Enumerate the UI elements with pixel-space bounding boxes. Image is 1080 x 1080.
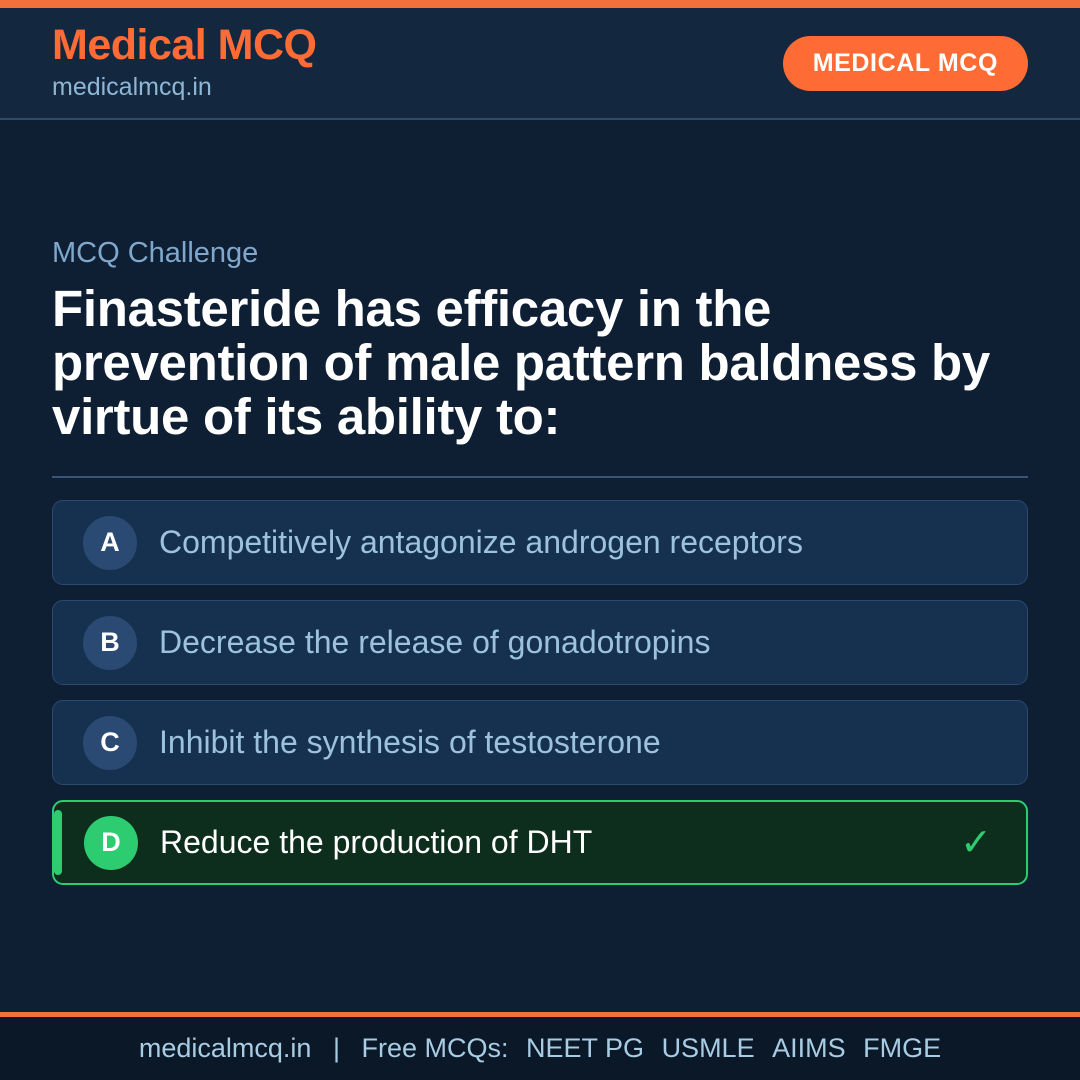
option-letter-badge: C [83, 716, 137, 770]
header-badge: MEDICAL MCQ [783, 36, 1028, 91]
option-row-d[interactable]: D Reduce the production of DHT ✓ [52, 800, 1028, 885]
eyebrow-label: MCQ Challenge [52, 238, 1028, 270]
option-text: Reduce the production of DHT [160, 824, 956, 861]
main-content: MCQ Challenge Finasteride has efficacy i… [0, 120, 1080, 1012]
option-text: Inhibit the synthesis of testosterone [159, 724, 957, 761]
footer-tag-usmle: USMLE [652, 1033, 755, 1063]
option-letter-badge: D [84, 816, 138, 870]
footer-tag-aiims: AIIMS [762, 1033, 846, 1063]
brand-title: Medical MCQ [52, 24, 317, 68]
divider [52, 476, 1028, 478]
option-text: Competitively antagonize androgen recept… [159, 524, 957, 561]
option-text: Decrease the release of gonadotropins [159, 624, 957, 661]
footer-label: Free MCQs: [361, 1033, 508, 1063]
question-text: Finasteride has efficacy in the preventi… [52, 282, 1028, 444]
option-row-a[interactable]: A Competitively antagonize androgen rece… [52, 500, 1028, 585]
option-letter-badge: B [83, 616, 137, 670]
mcq-slide: Medical MCQ medicalmcq.in MEDICAL MCQ MC… [0, 0, 1080, 1080]
footer-tag-neetpg: NEET PG [516, 1033, 644, 1063]
footer: medicalmcq.in | Free MCQs: NEET PG USMLE… [0, 1012, 1080, 1080]
footer-site: medicalmcq.in [139, 1033, 312, 1063]
footer-tag-fmge: FMGE [853, 1033, 941, 1063]
top-accent-bar [0, 0, 1080, 8]
options-list: A Competitively antagonize androgen rece… [52, 500, 1028, 885]
footer-text: medicalmcq.in | Free MCQs: NEET PG USMLE… [139, 1033, 941, 1064]
brand-subtitle: medicalmcq.in [52, 72, 317, 102]
header: Medical MCQ medicalmcq.in MEDICAL MCQ [0, 8, 1080, 120]
option-row-b[interactable]: B Decrease the release of gonadotropins … [52, 600, 1028, 685]
correct-check-icon: ✓ [956, 824, 996, 862]
option-letter-badge: A [83, 516, 137, 570]
brand: Medical MCQ medicalmcq.in [52, 24, 317, 102]
footer-separator: | [319, 1033, 354, 1063]
option-row-c[interactable]: C Inhibit the synthesis of testosterone … [52, 700, 1028, 785]
